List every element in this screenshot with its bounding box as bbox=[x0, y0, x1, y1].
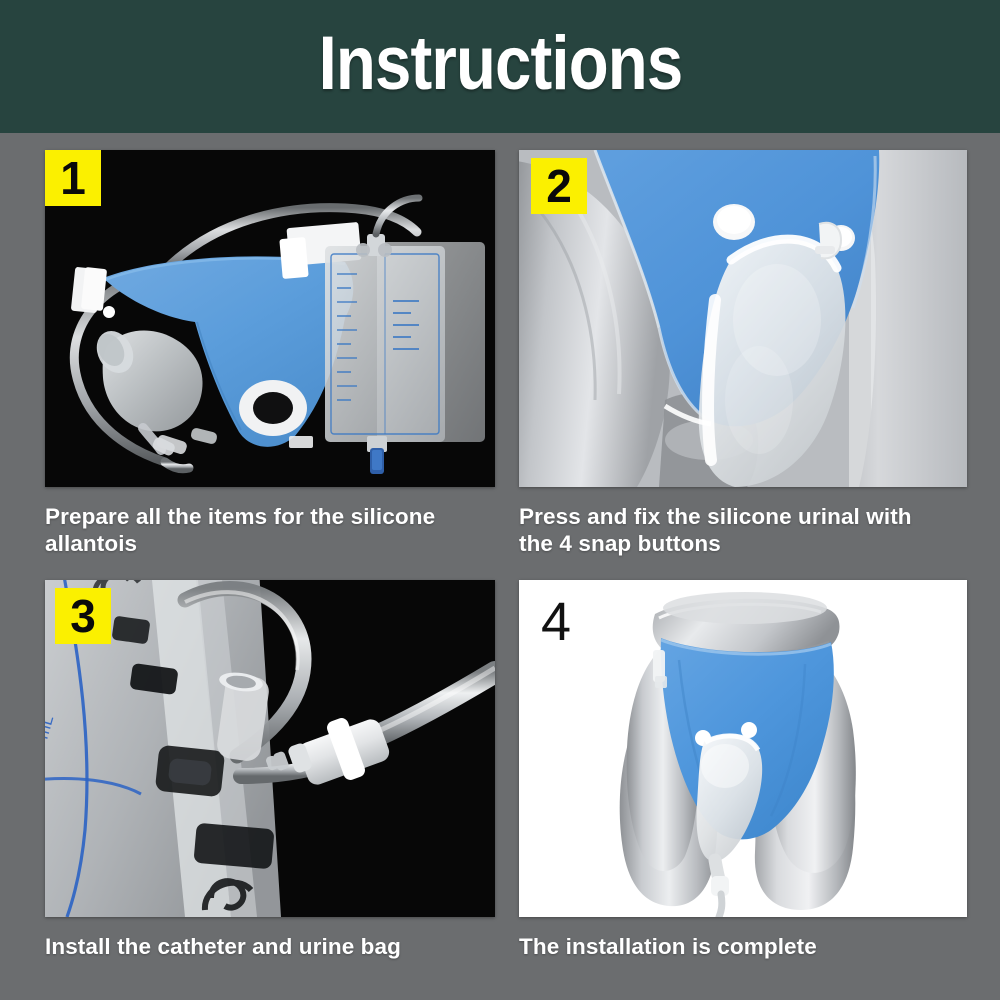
step-2-number-badge: 2 bbox=[531, 158, 587, 214]
step-4-number-badge: 4 bbox=[541, 592, 597, 652]
header-banner: Instructions bbox=[0, 0, 1000, 133]
step-2-photo: 2 bbox=[519, 150, 967, 487]
step-3-caption: Install the catheter and urine bag bbox=[45, 933, 475, 960]
step-3-illustration: mL bbox=[45, 580, 495, 917]
instructions-infographic: Instructions bbox=[0, 0, 1000, 1000]
step-card-3: mL bbox=[45, 580, 495, 1000]
step-card-4: 4 The installation is complete bbox=[519, 580, 967, 1000]
step-4-photo: 4 bbox=[519, 580, 967, 917]
step-2-caption: Press and fix the silicone urinal with t… bbox=[519, 503, 949, 558]
step-card-1: 1 Prepare all the items for the silicone… bbox=[45, 150, 495, 580]
step-4-caption: The installation is complete bbox=[519, 933, 949, 960]
step-1-caption: Prepare all the items for the silicone a… bbox=[45, 503, 475, 558]
step-3-photo: mL bbox=[45, 580, 495, 917]
step-1-illustration bbox=[45, 150, 495, 487]
steps-grid: 1 Prepare all the items for the silicone… bbox=[0, 133, 1000, 1000]
step-1-photo: 1 bbox=[45, 150, 495, 487]
step-3-number-badge: 3 bbox=[55, 588, 111, 644]
page-title: Instructions bbox=[318, 26, 682, 108]
step-1-number-badge: 1 bbox=[45, 150, 101, 206]
step-card-2: 2 Press and fix the silicone urinal with… bbox=[519, 150, 967, 580]
